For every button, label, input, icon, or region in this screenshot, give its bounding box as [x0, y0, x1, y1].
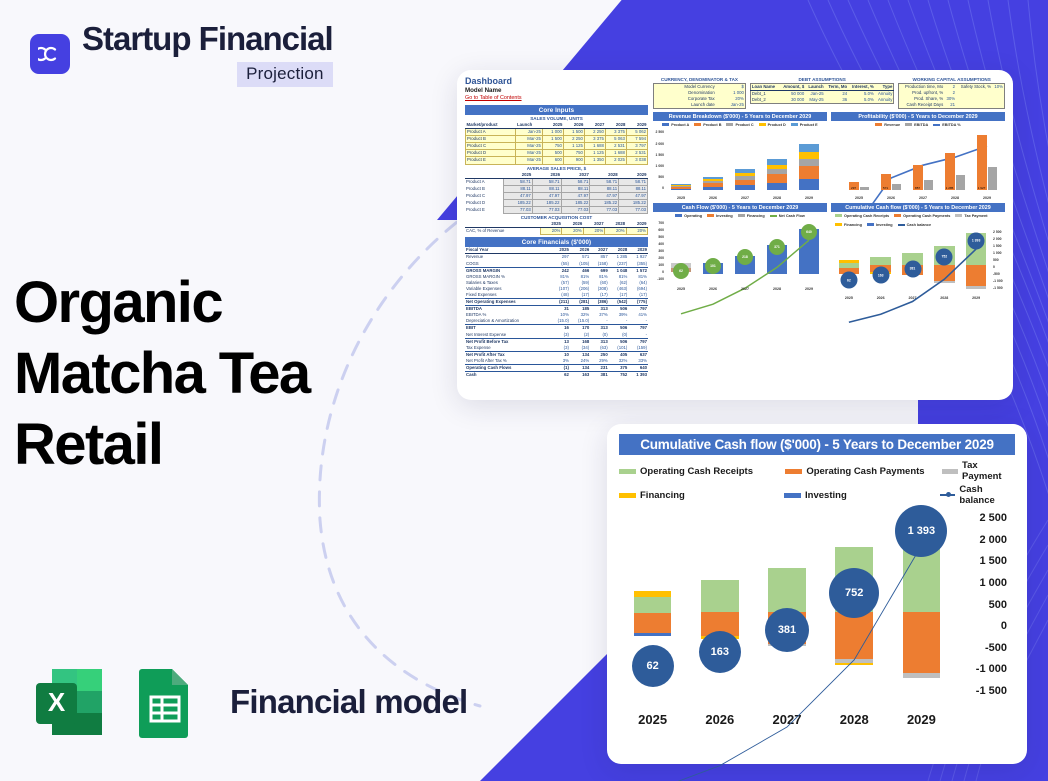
cumulative-cash-flow-mini-title: Cumulative Cash flow ($'000) - 5 Years t…: [831, 203, 1005, 212]
table-row: EBITDA31185313506797: [465, 306, 648, 313]
wc-box-header: WORKING CAPITAL ASSUMPTIONS: [898, 76, 1005, 83]
x-axis-labels: 2025 2026 2027 2028 2029: [833, 296, 992, 300]
bar-group: 571: [881, 130, 902, 190]
data-point-2029: 1 393: [895, 505, 947, 557]
svg-text:X: X: [48, 687, 66, 717]
sales-volume-header: SALES VOLUME, UNITS: [465, 115, 648, 122]
legend-item-cash-balance: Cash balance: [940, 484, 1015, 506]
plot-area: 62 163 381 752 1 393: [833, 230, 992, 290]
plot-area: 62 101 218 371 640: [665, 221, 825, 281]
table-row: Product B 88.11 88.11 88.11 88.11 88.11: [465, 185, 648, 192]
microsoft-excel-icon: X: [30, 663, 108, 741]
table-row: CAC, % of Revenue 20% 20% 20% 20% 20%: [465, 228, 648, 235]
bar-group: 1 285: [945, 130, 966, 190]
legend-item-operating-cash-receipts: Operating Cash Receipts: [619, 460, 775, 482]
cash-flow-legend: Operating Investing Financing Net Cash F…: [653, 212, 827, 219]
col-launch: Launch: [516, 122, 542, 129]
bar-group: 297: [849, 130, 870, 190]
table-row: Product A Jan-25 1 000 1 500 2 250 3 375…: [466, 129, 648, 136]
bar-group: [799, 130, 820, 190]
dashboard-title: Dashboard: [465, 76, 648, 86]
x-axis-labels: 2025 2026 2027 2028 2029: [843, 196, 1003, 200]
profitability-title: Profitability ($'000) - 5 Years to Decem…: [831, 112, 1005, 121]
bar-group: [735, 130, 756, 190]
chart-plot: 62 163 381 752 1 393 2 500 2 000 1 500 1…: [619, 512, 1015, 727]
table-row: Launch dateJan-25: [654, 102, 746, 109]
plot-area: 62 163 381 752 1 393: [619, 512, 955, 697]
average-price-table: 2025 2026 2027 2028 2029 Product A 58.71…: [465, 172, 648, 215]
cumulative-cash-flow-card[interactable]: Cumulative Cash flow ($'000) - 5 Years t…: [607, 424, 1027, 764]
brand-logo-mark: [30, 34, 70, 74]
cumulative-cash-flow-mini-legend: Operating Cash Receipts Operating Cash P…: [831, 212, 1005, 228]
legend-item: Investing: [707, 214, 733, 218]
bar-group: 1 927: [977, 130, 998, 190]
profitability-plot: 297 571 857: [831, 128, 1005, 200]
table-row: Product E 77.03 77.03 77.03 77.03 77.03: [465, 207, 648, 214]
y-axis-labels: 2 500 2 000 1 500 1 000 500 0 -500 -1 00…: [993, 230, 1005, 290]
google-sheets-icon: [126, 663, 204, 741]
data-point-2025: 62: [632, 645, 674, 687]
legend-item: Financing: [835, 223, 862, 227]
legend-item: Operating Cash Receipts: [835, 214, 889, 218]
data-point-2028: 752: [829, 568, 879, 618]
profitability-legend: Revenue EBITDA EBITDA %: [831, 121, 1005, 128]
wc-box-table: Production time, Mo 2 Safety Stock, % 10…: [898, 83, 1005, 109]
legend-item: Financing: [738, 214, 765, 218]
footer-label: Financial model: [230, 683, 467, 721]
legend-item-tax-payment: Tax Payment: [942, 460, 1015, 482]
cac-table: 2025 2026 2027 2028 2029 CAC, % of Reven…: [465, 221, 648, 235]
table-row: Debt_1 50 000 Jan-25 24 5.0% Annuity: [750, 91, 893, 98]
data-point-2026: 163: [699, 631, 741, 673]
working-capital-assumptions-box: WORKING CAPITAL ASSUMPTIONS Production t…: [898, 76, 1005, 109]
cumulative-cash-flow-mini-chart[interactable]: Cumulative Cash flow ($'000) - 5 Years t…: [831, 203, 1005, 300]
legend-item-operating-cash-payments: Operating Cash Payments: [785, 460, 932, 482]
bar-group: 857: [913, 130, 934, 190]
revenue-breakdown-legend: Product A Product B Product C Product D …: [653, 121, 827, 128]
brand-subtitle-badge: Projection: [237, 62, 333, 87]
brand-header: Startup Financial Projection: [30, 22, 333, 87]
cumulative-cash-flow-mini-plot: 62 163 381 752 1 393 2 500 2 000 1 500: [831, 228, 1005, 300]
debt-box-header: DEBT ASSUMPTIONS: [750, 76, 894, 83]
table-row: Net Operating Expenses(211)(281)(386)(54…: [465, 299, 648, 306]
table-row: Net Profit After Tax10134250405637: [465, 351, 648, 358]
cash-flow-plot: 700 600 500 400 300 200 100 0 -100: [653, 219, 827, 291]
legend-item: Cash balance: [898, 223, 931, 227]
mini-chart-row-2: Cash Flow ($'000) - 5 Years to December …: [653, 203, 1005, 300]
table-row: Product A 58.71 58.71 58.71 58.71 58.71: [465, 178, 648, 185]
table-row: Revenue2975718571 2851 927: [465, 254, 648, 261]
core-financials-table: Fiscal Year 2025 2026 2027 2028 2029 Rev…: [465, 247, 648, 378]
legend-item: Net Cash Flow: [770, 214, 805, 218]
table-header-row: 2025 2026 2027 2028 2029: [465, 221, 648, 228]
revenue-breakdown-title: Revenue Breakdown ($'000) - 5 Years to D…: [653, 112, 827, 121]
col-2028: 2028: [605, 122, 626, 129]
col-2027: 2027: [584, 122, 605, 129]
cash-flow-title: Cash Flow ($'000) - 5 Years to December …: [653, 203, 827, 212]
plot-area: 297 571 857: [843, 130, 1003, 190]
table-row: Depreciation & Amortization(15.0)(15.0)-…: [465, 318, 648, 325]
model-name-label: Model Name: [465, 87, 648, 94]
table-row: COGS(55)(105)(158)(237)(355): [465, 261, 648, 268]
currency-box-header: CURRENCY, DENOMINATOR & TAX: [653, 76, 746, 83]
data-point-2027: 381: [765, 608, 809, 652]
legend-item: EBITDA %: [933, 123, 960, 127]
table-row: Product C 47.97 47.97 47.97 47.97 47.97: [465, 192, 648, 199]
cash-balance-markers: 62 163 381 752 1 393: [833, 230, 992, 290]
table-row: Model Currency$: [654, 84, 746, 91]
table-row: Product C Mar-25 750 1 125 1 688 2 531 3…: [466, 143, 648, 150]
y-axis-labels: 2 500 2 000 1 500 1 000 500 0 -500 -1 00…: [957, 512, 1009, 697]
col-market-product: Market/product: [466, 122, 516, 129]
plot-area: [665, 130, 825, 190]
core-inputs-header: Core Inputs: [465, 105, 648, 115]
net-cash-flow-markers: 62 101 218 371 640: [665, 221, 825, 281]
bar-group: [703, 130, 724, 190]
currency-box-table: Model Currency$ Denomination1 000 Corpor…: [653, 83, 746, 109]
legend-item: Tax Payment: [955, 214, 987, 218]
table-header-row: 2025 2026 2027 2028 2029: [465, 172, 648, 179]
table-row: Net Profit Before Tax13168313506797: [465, 338, 648, 345]
brand-title: Startup Financial: [82, 22, 333, 57]
legend-item: Operating Cash Payments: [894, 214, 950, 218]
table-row: Production time, Mo 2 Safety Stock, % 10…: [899, 84, 1005, 91]
table-header-row: Market/product Launch 2025 2026 2027 202…: [466, 122, 648, 129]
chart-title: Cumulative Cash flow ($'000) - 5 Years t…: [619, 434, 1015, 455]
table-row: GROSS MARGIN2424666991 0481 572: [465, 267, 648, 274]
sales-volume-table: Market/product Launch 2025 2026 2027 202…: [465, 122, 648, 165]
table-row: Product D 185.22 185.22 185.22 185.22 18…: [465, 199, 648, 206]
x-axis-labels: 2025 2026 2027 2028 2029: [665, 287, 825, 291]
revenue-breakdown-chart[interactable]: Revenue Breakdown ($'000) - 5 Years to D…: [653, 112, 827, 200]
table-row: Tax Expense(3)(34)(63)(101)(159): [465, 345, 648, 352]
legend-item: Product B: [694, 123, 721, 127]
table-row: Cash621633817521 393: [465, 372, 648, 379]
bar-group: [767, 130, 788, 190]
e-logo-icon: [38, 42, 62, 66]
legend-item: EBITDA: [905, 123, 928, 127]
legend-item: Product C: [726, 123, 753, 127]
legend-item: Product A: [662, 123, 689, 127]
assumption-boxes-row: CURRENCY, DENOMINATOR & TAX Model Curren…: [653, 76, 1005, 109]
dashboard-left-column: Dashboard Model Name Go to Table of Cont…: [465, 76, 648, 394]
col-2029: 2029: [626, 122, 647, 129]
y-axis-labels: 2 500 2 000 1 500 1 000 500 0: [653, 130, 664, 190]
legend-item: Investing: [867, 223, 893, 227]
debt-box-table: Loan Name Amount, $ Launch Term, Mo Inte…: [750, 83, 894, 104]
page-title: Organic Matcha Tea Retail: [14, 268, 414, 480]
dashboard-right-column: CURRENCY, DENOMINATOR & TAX Model Curren…: [653, 76, 1005, 394]
table-header-row: Loan Name Amount, $ Launch Term, Mo Inte…: [750, 84, 893, 91]
table-of-contents-link[interactable]: Go to Table of Contents: [465, 95, 648, 101]
average-price-header: AVERAGE SALES PRICE, $: [465, 165, 648, 172]
table-row: Net Interest Expense(3)(2)(0)(0)-: [465, 332, 648, 339]
legend-item-investing: Investing: [784, 484, 930, 506]
table-row: Fixed Expenses(48)(17)(17)(17)(17): [465, 292, 648, 299]
table-row: Product B Mar-25 1 500 2 250 3 375 5 063…: [466, 136, 648, 143]
bar-group: [671, 130, 692, 190]
debt-assumptions-box: DEBT ASSUMPTIONS Loan Name Amount, $ Lau…: [750, 76, 894, 109]
table-row: Net Profit After Tax %3%24%29%32%33%: [465, 358, 648, 365]
table-row: Product E Mar-25 600 900 1 350 2 025 3 0…: [466, 157, 648, 164]
dashboard-preview-card[interactable]: Dashboard Model Name Go to Table of Cont…: [457, 70, 1013, 400]
core-financials-header: Core Financials ($'000): [465, 237, 648, 247]
footer-format-row: X Financial model: [30, 663, 467, 741]
revenue-breakdown-plot: 2 500 2 000 1 500 1 000 500 0: [653, 128, 827, 200]
table-row: Product D Mar-25 500 750 1 125 1 688 2 5…: [466, 150, 648, 157]
y-axis-labels: 700 600 500 400 300 200 100 0 -100: [653, 221, 664, 281]
table-row: Operating Cash Flows(1)134231375640: [465, 365, 648, 372]
mini-chart-row-1: Revenue Breakdown ($'000) - 5 Years to D…: [653, 112, 1005, 200]
table-row: Debt_2 30 000 May-25 36 5.0% Annuity: [750, 97, 893, 104]
cac-header: CUSTOMER ACQUISITION COST: [465, 214, 648, 221]
legend-item-financing: Financing: [619, 484, 774, 506]
chart-legend: Operating Cash Receipts Operating Cash P…: [619, 460, 1015, 506]
col-2026: 2026: [563, 122, 584, 129]
legend-item: Product E: [791, 123, 818, 127]
legend-item: Operating: [675, 214, 702, 218]
table-row: EBIT16170313506797: [465, 325, 648, 332]
legend-item: Product D: [759, 123, 786, 127]
table-header-row: Fiscal Year 2025 2026 2027 2028 2029: [465, 247, 648, 254]
legend-item: Revenue: [875, 123, 900, 127]
col-2025: 2025: [542, 122, 563, 129]
profitability-chart[interactable]: Profitability ($'000) - 5 Years to Decem…: [831, 112, 1005, 200]
cash-flow-chart[interactable]: Cash Flow ($'000) - 5 Years to December …: [653, 203, 827, 300]
x-axis-labels: 2025 2026 2027 2028 2029: [665, 196, 825, 200]
table-row: Cash Receipt Days21: [899, 102, 1005, 109]
currency-denominator-tax-box: CURRENCY, DENOMINATOR & TAX Model Curren…: [653, 76, 746, 109]
